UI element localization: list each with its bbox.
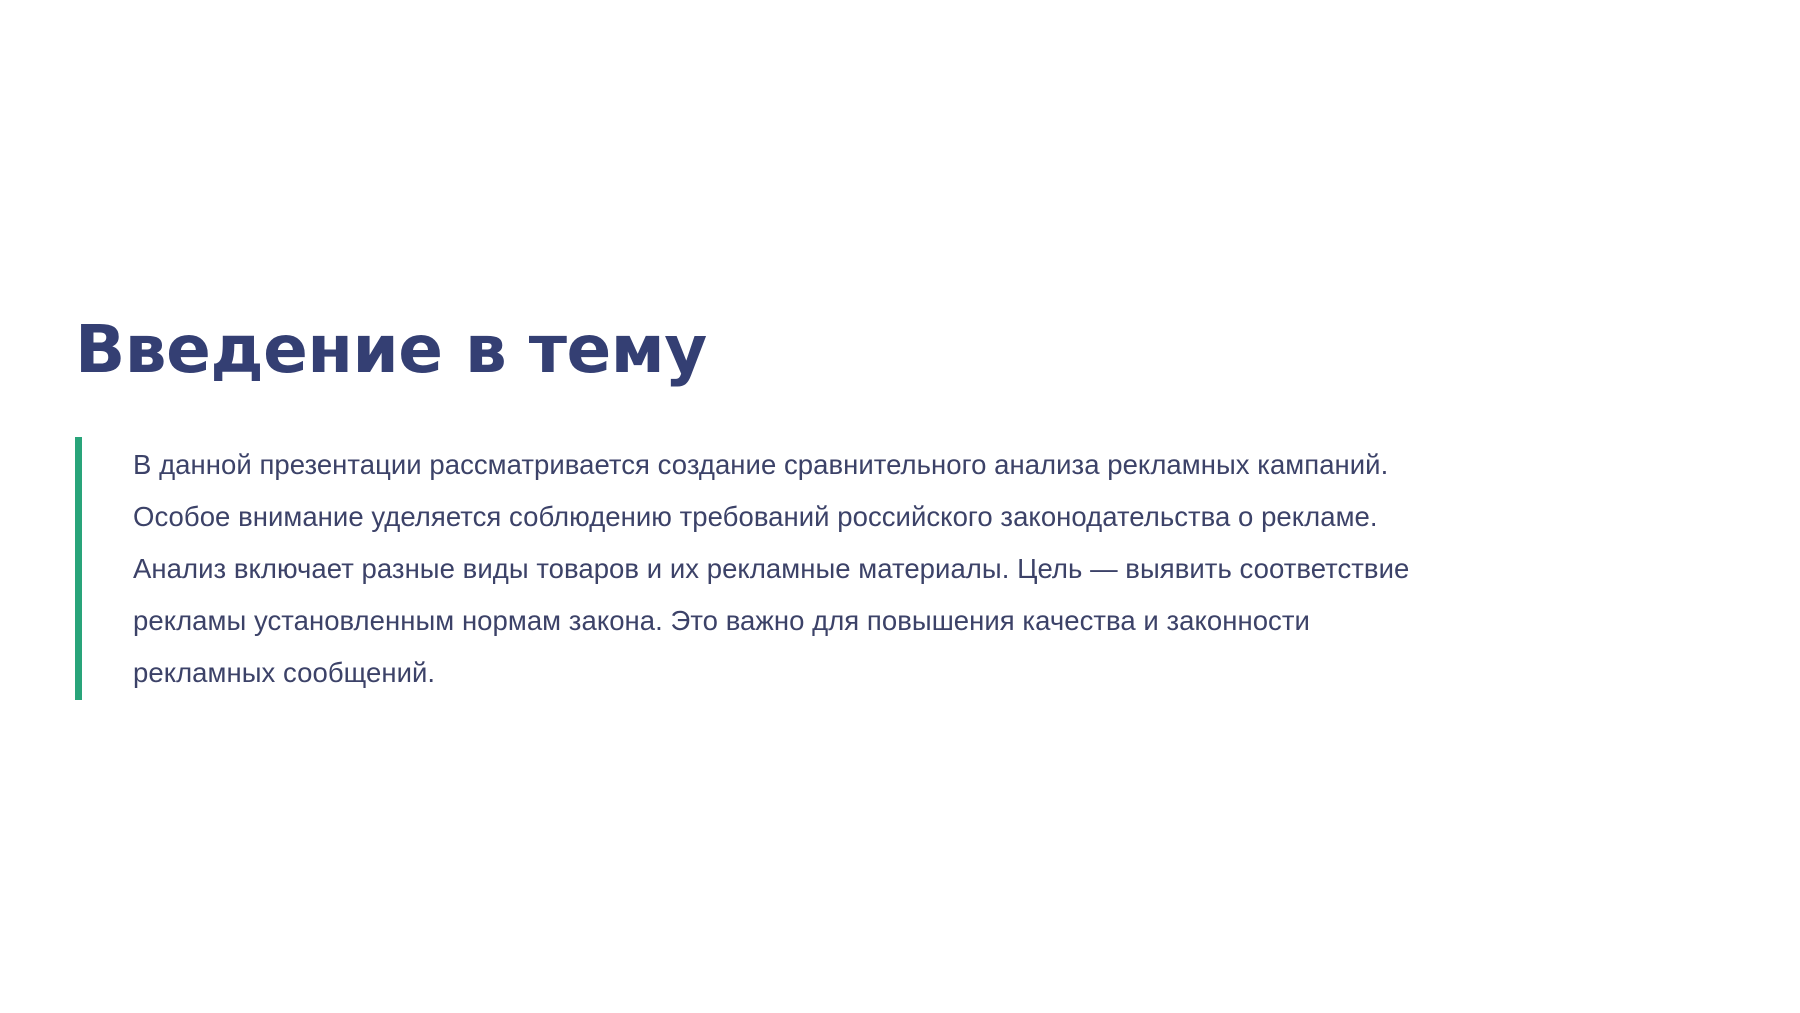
presentation-slide: Введение в тему В данной презентации рас… (0, 0, 1800, 1013)
body-line: Анализ включает разные виды товаров и их… (133, 543, 1715, 595)
accent-bar (75, 437, 82, 700)
page-title: Введение в тему (75, 315, 707, 384)
body-paragraph: В данной презентации рассматривается соз… (82, 437, 1715, 700)
body-content-block: В данной презентации рассматривается соз… (75, 437, 1715, 700)
body-line: рекламы установленным нормам закона. Это… (133, 595, 1715, 647)
body-line: Особое внимание уделяется соблюдению тре… (133, 491, 1715, 543)
body-line: В данной презентации рассматривается соз… (133, 439, 1715, 491)
body-line: рекламных сообщений. (133, 647, 1715, 699)
